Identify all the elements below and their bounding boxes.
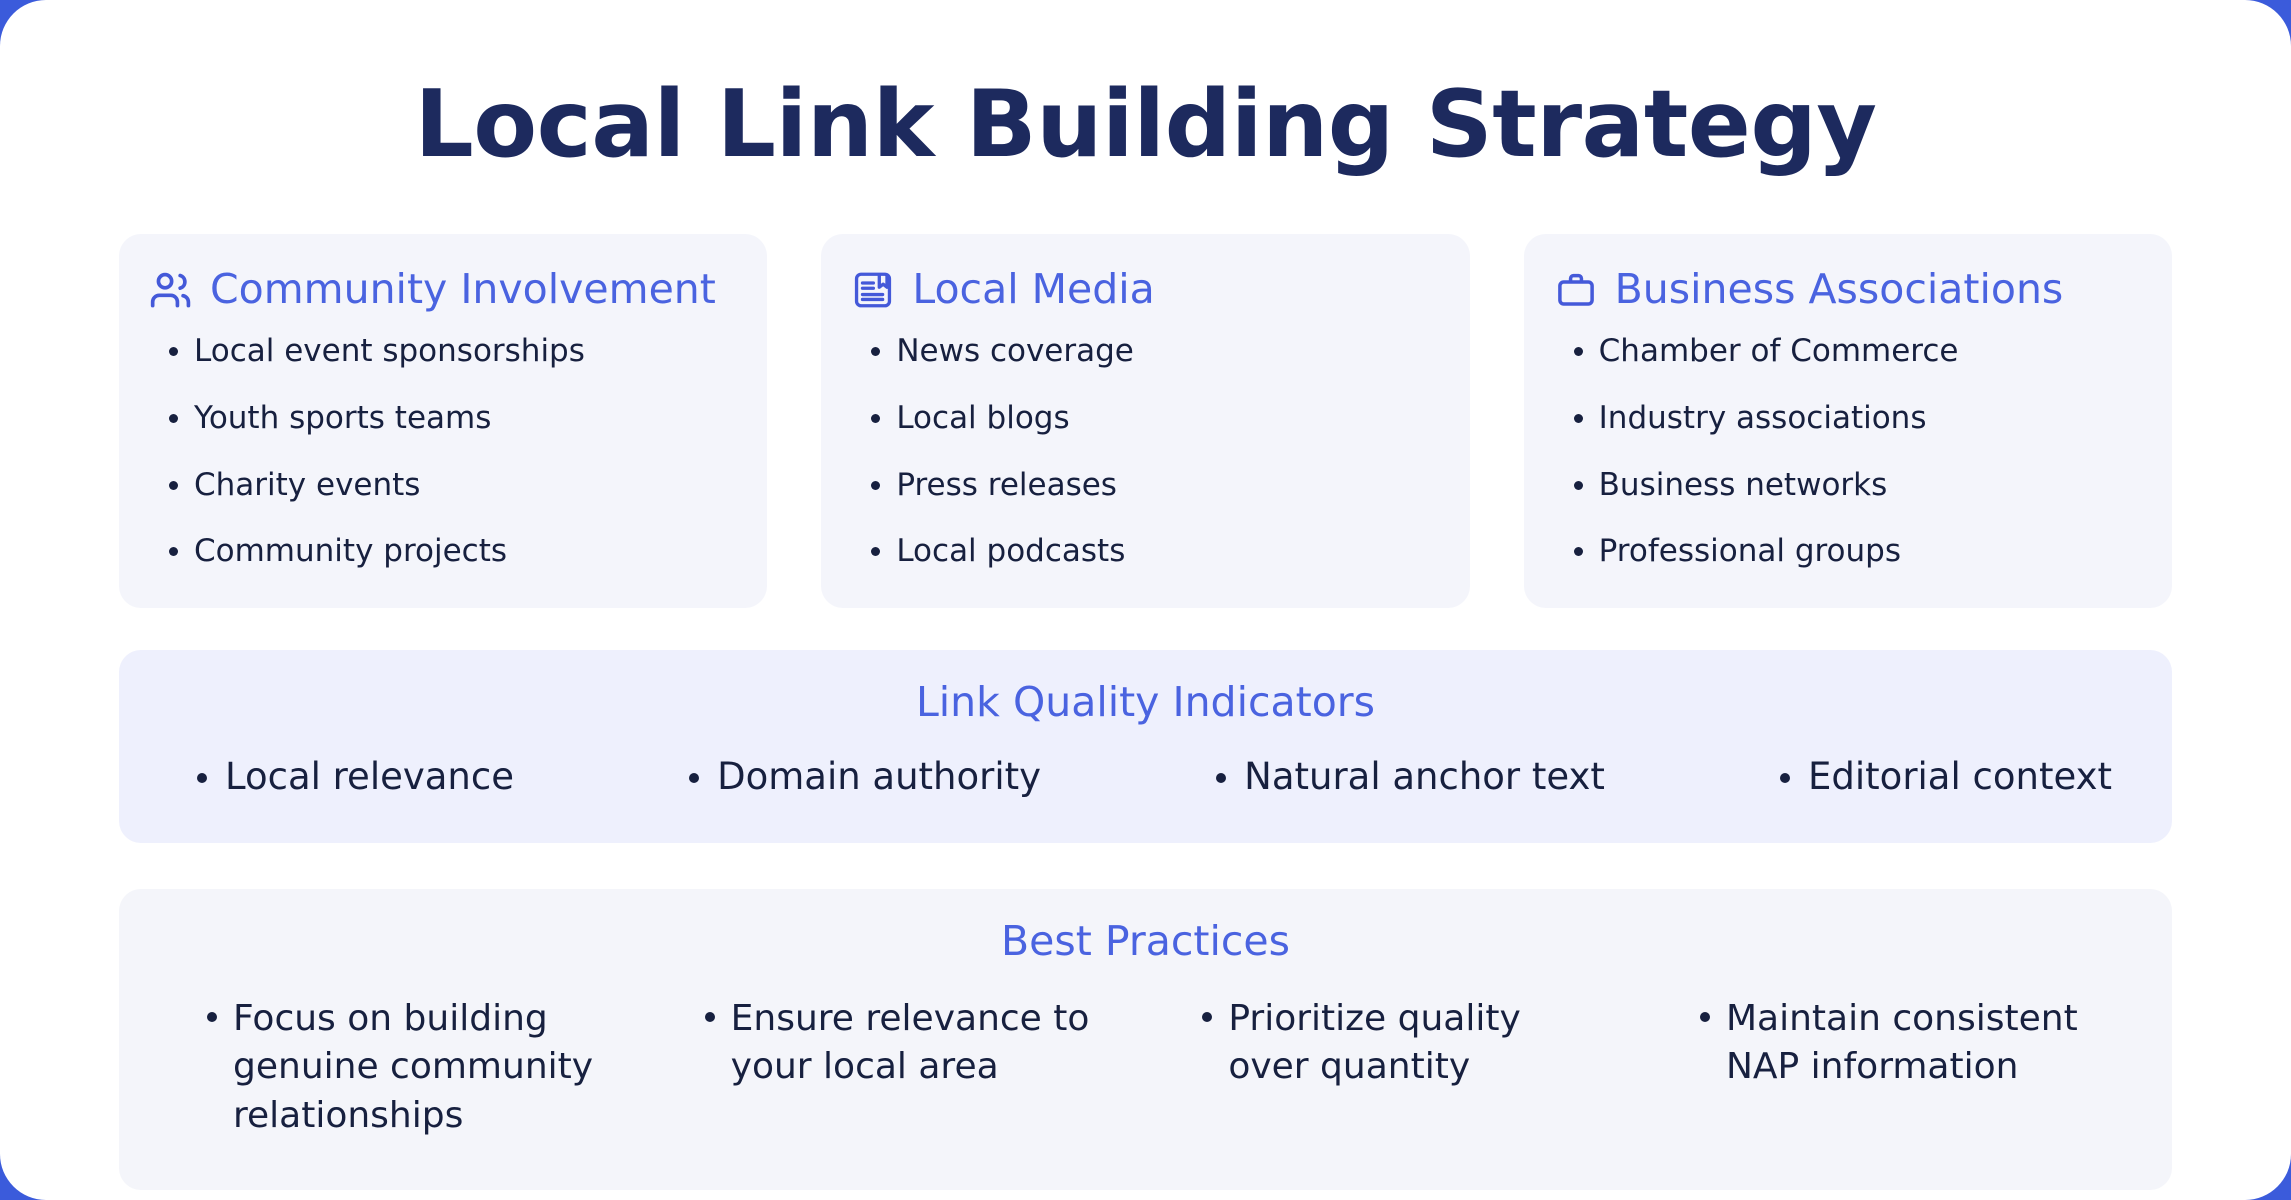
list-item: Focus on building genuine community rela… xyxy=(189,995,609,1141)
card-list: Local event sponsorships Youth sports te… xyxy=(149,332,737,571)
list-item: Maintain consistent NAP information xyxy=(1682,995,2102,1092)
panel-best-practices: Best Practices Focus on building genuine… xyxy=(119,889,2172,1190)
list-item: Charity events xyxy=(149,466,737,505)
infographic-page: Local Link Building Strategy Community I… xyxy=(0,0,2291,1200)
users-icon xyxy=(149,268,193,312)
list-item: Chamber of Commerce xyxy=(1554,332,2142,371)
list-item: News coverage xyxy=(851,332,1439,371)
category-card-grid: Community Involvement Local event sponso… xyxy=(0,234,2291,608)
list-item: Industry associations xyxy=(1554,399,2142,438)
card-business-associations: Business Associations Chamber of Commerc… xyxy=(1524,234,2172,608)
list-item: Local relevance xyxy=(179,755,514,799)
list-item: Press releases xyxy=(851,466,1439,505)
quality-indicator-list: Local relevance Domain authority Natural… xyxy=(159,755,2132,799)
list-item: Prioritize quality over quantity xyxy=(1184,995,1604,1092)
panel-title: Link Quality Indicators xyxy=(159,680,2132,725)
card-local-media: Local Media News coverage Local blogs Pr… xyxy=(821,234,1469,608)
list-item: Natural anchor text xyxy=(1198,755,1605,799)
list-item: Local podcasts xyxy=(851,532,1439,571)
list-item: Community projects xyxy=(149,532,737,571)
newspaper-icon xyxy=(851,268,895,312)
card-title: Community Involvement xyxy=(210,267,716,312)
list-item: Editorial context xyxy=(1762,755,2112,799)
panel-title: Best Practices xyxy=(159,919,2132,964)
page-title: Local Link Building Strategy xyxy=(0,0,2291,171)
panel-link-quality-indicators: Link Quality Indicators Local relevance … xyxy=(119,650,2172,843)
list-item: Business networks xyxy=(1554,466,2142,505)
list-item: Domain authority xyxy=(671,755,1041,799)
card-list: News coverage Local blogs Press releases… xyxy=(851,332,1439,571)
list-item: Local blogs xyxy=(851,399,1439,438)
card-header: Local Media xyxy=(851,267,1439,312)
card-title: Business Associations xyxy=(1615,267,2064,312)
card-title: Local Media xyxy=(912,267,1154,312)
list-item: Professional groups xyxy=(1554,532,2142,571)
card-list: Chamber of Commerce Industry association… xyxy=(1554,332,2142,571)
card-header: Community Involvement xyxy=(149,267,737,312)
list-item: Youth sports teams xyxy=(149,399,737,438)
card-header: Business Associations xyxy=(1554,267,2142,312)
list-item: Local event sponsorships xyxy=(149,332,737,371)
best-practices-list: Focus on building genuine community rela… xyxy=(159,995,2132,1141)
list-item: Ensure relevance to your local area xyxy=(687,995,1107,1092)
briefcase-icon xyxy=(1554,268,1598,312)
card-community-involvement: Community Involvement Local event sponso… xyxy=(119,234,767,608)
